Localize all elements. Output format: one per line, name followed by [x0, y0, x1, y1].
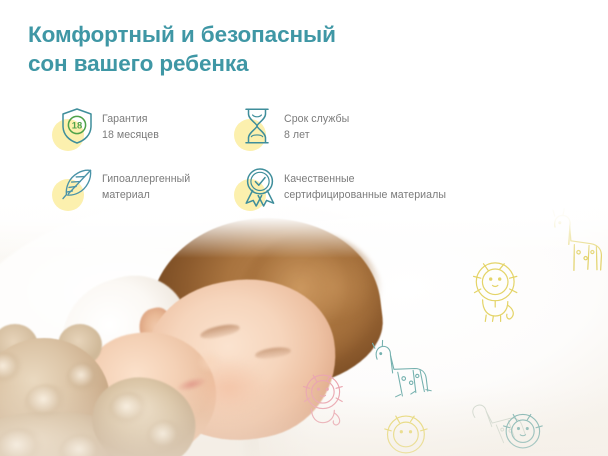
teddy-bear-fluff [66, 362, 102, 396]
shield-badge-number: 18 [72, 120, 82, 131]
feature-item-hypoallergenic: Гипоаллергенный материал [52, 166, 234, 212]
sleeping-child-photo [0, 196, 608, 456]
teddy-bear-fluff [24, 384, 70, 424]
page-title: Комфортный и безопасный сон вашего ребен… [28, 20, 336, 78]
teddy-bear-fluff [108, 392, 152, 430]
hourglass-icon [234, 106, 280, 152]
feature-label-certified: Качественные сертифицированные материалы [284, 166, 446, 203]
teddy-bear-fluff [146, 420, 186, 456]
feature-label-hypoallergenic: Гипоаллергенный материал [102, 166, 190, 203]
award-check-icon [234, 166, 280, 212]
feather-icon [52, 166, 98, 212]
feature-item-warranty: 18 Гарантия 18 месяцев [52, 106, 234, 152]
feature-label-lifespan: Срок службы 8 лет [284, 106, 349, 143]
feature-label-warranty: Гарантия 18 месяцев [102, 106, 159, 143]
feature-row: 18 Гарантия 18 месяцев [52, 106, 522, 152]
promo-banner: Комфортный и безопасный сон вашего ребен… [0, 0, 608, 456]
feature-item-lifespan: Срок службы 8 лет [234, 106, 522, 152]
feature-row: Гипоаллергенный материал Качественн [52, 166, 522, 212]
top-content-section: Комфортный и безопасный сон вашего ребен… [0, 0, 608, 228]
feature-list: 18 Гарантия 18 месяцев [52, 106, 522, 212]
feature-item-certified: Качественные сертифицированные материалы [234, 166, 522, 212]
shield-18-icon: 18 [52, 106, 98, 152]
